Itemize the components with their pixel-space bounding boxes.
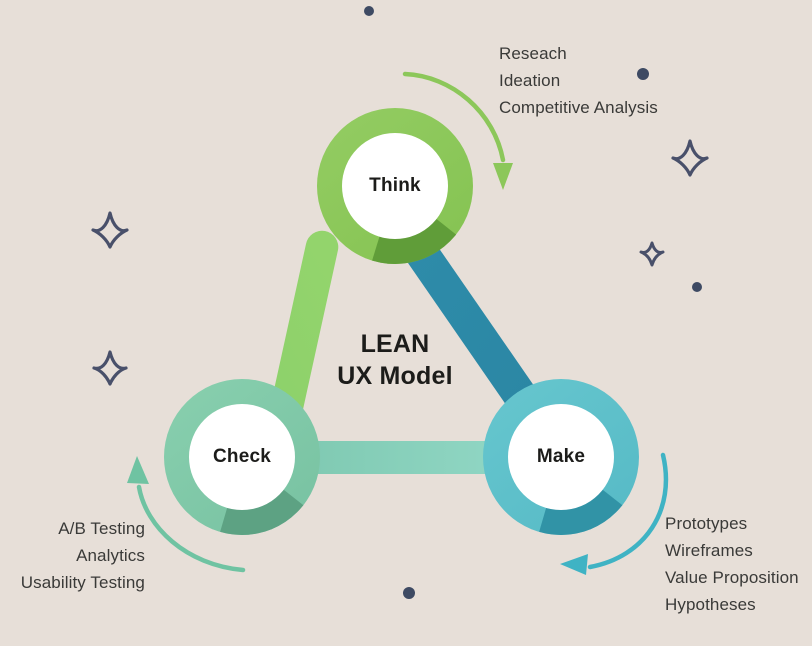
- list-item: Hypotheses: [665, 591, 799, 618]
- list-item: A/B Testing: [21, 515, 145, 542]
- list-item: Analytics: [21, 542, 145, 569]
- node-check[interactable]: [164, 379, 326, 570]
- node-make[interactable]: [483, 379, 645, 570]
- sparkle-icon-left-lower: [94, 352, 126, 384]
- sparkle-icon-left-upper: [93, 213, 127, 247]
- list-item: Wireframes: [665, 537, 799, 564]
- node-label-make: Make: [537, 446, 585, 468]
- node-label-think: Think: [369, 175, 421, 197]
- dot-bottom: [403, 587, 415, 599]
- list-item: Value Proposition: [665, 564, 799, 591]
- node-label-check: Check: [213, 446, 271, 468]
- sparkle-icon-right-upper: [673, 141, 707, 175]
- list-item: Reseach: [499, 40, 658, 67]
- list-item: Competitive Analysis: [499, 94, 658, 121]
- infographic-canvas: LEAN UX Model Think Make Check Reseach I…: [0, 0, 812, 646]
- sparkle-icon-right-small: [641, 243, 663, 265]
- title-line-1: LEAN: [337, 328, 453, 360]
- list-make: Prototypes Wireframes Value Proposition …: [665, 510, 799, 618]
- list-check: A/B Testing Analytics Usability Testing: [21, 515, 145, 596]
- list-item: Prototypes: [665, 510, 799, 537]
- list-think: Reseach Ideation Competitive Analysis: [499, 40, 658, 121]
- dot-mid-right: [692, 282, 702, 292]
- list-item: Usability Testing: [21, 569, 145, 596]
- dot-top: [364, 6, 374, 16]
- list-item: Ideation: [499, 67, 658, 94]
- title-line-2: UX Model: [337, 360, 453, 392]
- page-title: LEAN UX Model: [337, 328, 453, 392]
